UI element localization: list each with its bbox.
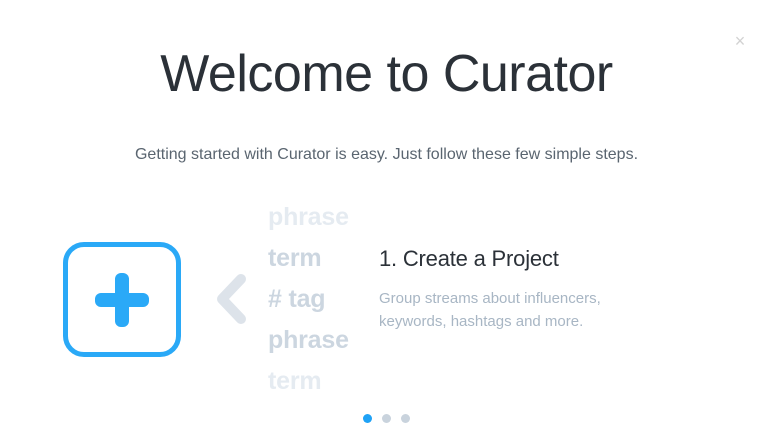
welcome-onboarding-modal: × Welcome to Curator Getting started wit… <box>0 0 773 435</box>
keyword-cloud-item: # tag <box>268 287 373 312</box>
pagination-dots <box>0 414 773 423</box>
keyword-cloud-item: phrase <box>268 328 373 353</box>
page-subtitle: Getting started with Curator is easy. Ju… <box>0 145 773 166</box>
keyword-cloud-item: term <box>268 246 373 271</box>
pagination-dot-3[interactable] <box>401 414 410 423</box>
pagination-dot-2[interactable] <box>382 414 391 423</box>
step-description: Group streams about influencers, keyword… <box>379 287 679 334</box>
step-content: phrase term # tag phrase term 1. Create … <box>0 195 773 395</box>
keyword-cloud: phrase term # tag phrase term <box>268 195 373 395</box>
step-description-line: keywords, hashtags and more. <box>379 310 679 333</box>
chevron-left-icon <box>212 273 248 325</box>
keyword-cloud-item: phrase <box>268 205 373 230</box>
step-heading: 1. Create a Project <box>379 247 679 271</box>
page-title: Welcome to Curator <box>0 48 773 100</box>
step-description-line: Group streams about influencers, <box>379 287 679 310</box>
create-project-button[interactable] <box>63 242 181 357</box>
step-text-block: 1. Create a Project Group streams about … <box>379 247 679 334</box>
plus-icon <box>95 273 149 327</box>
keyword-cloud-item: term <box>268 369 373 394</box>
pagination-dot-1[interactable] <box>363 414 372 423</box>
